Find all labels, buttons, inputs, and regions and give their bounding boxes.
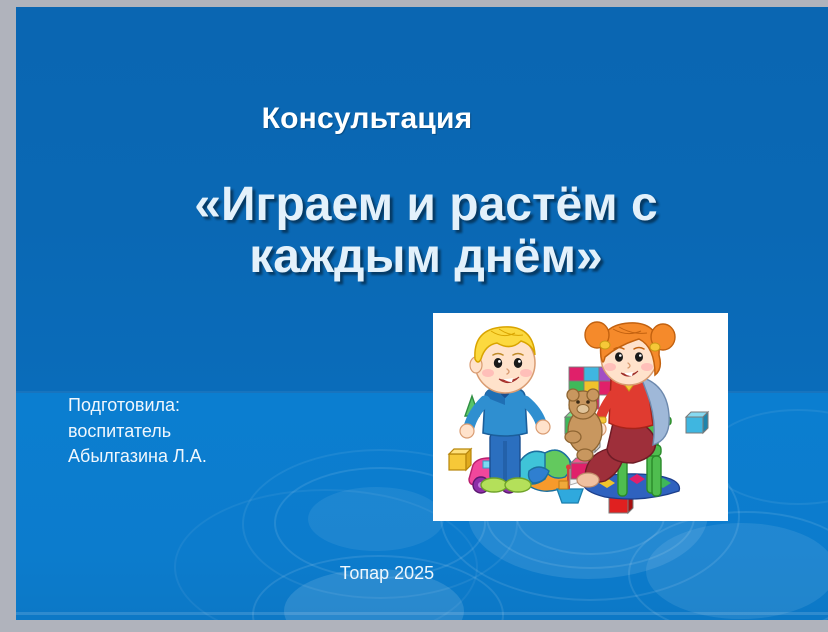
slide-subtitle: Консультация	[16, 102, 828, 136]
footer-divider-line	[16, 612, 828, 615]
children-playing-illustration	[433, 313, 728, 521]
slide-footer: Топар 2025	[16, 563, 828, 584]
children-playing-svg	[433, 313, 728, 521]
prepared-by-text: Подготовила: воспитатель Абылгазина Л.А.	[68, 393, 398, 470]
slide-canvas: Консультация «Играем и растём с каждым д…	[16, 7, 828, 620]
presentation-window: Консультация «Играем и растём с каждым д…	[0, 0, 828, 632]
slide-title: «Играем и растём с каждым днём»	[96, 179, 756, 283]
